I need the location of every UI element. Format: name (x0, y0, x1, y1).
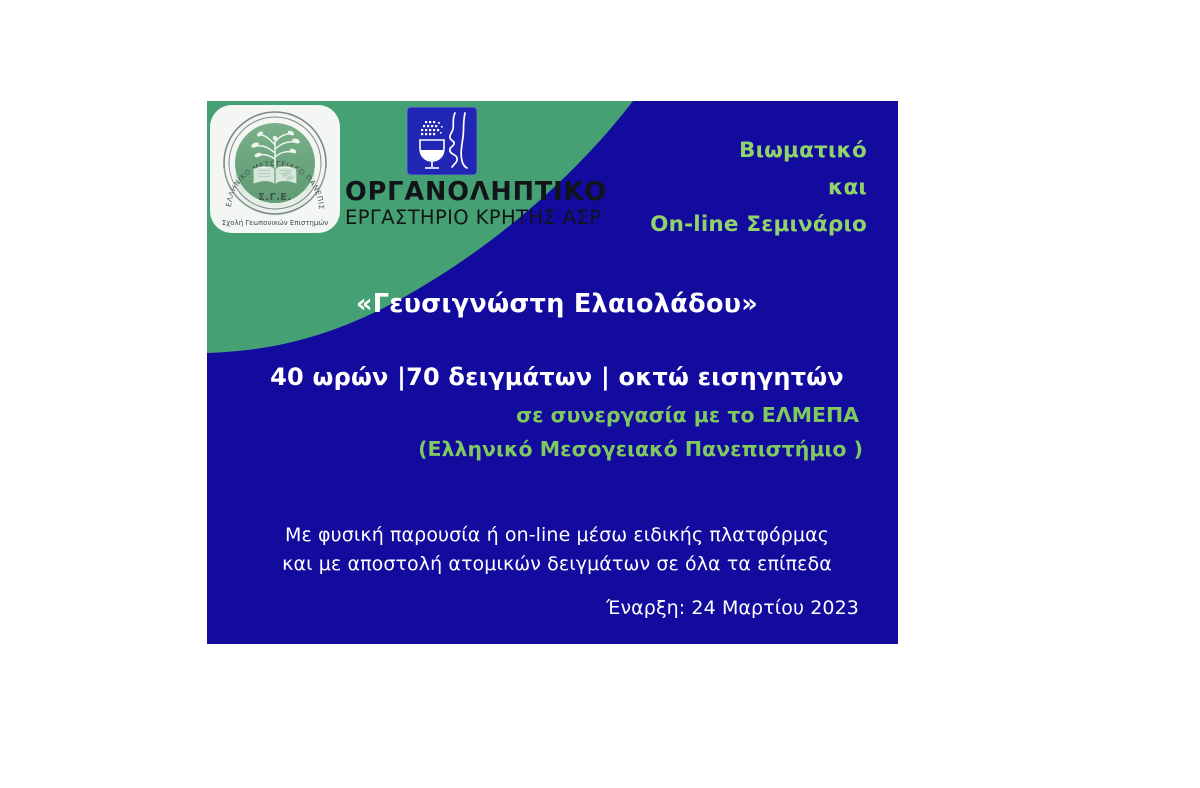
headline-line-2: και (507, 169, 867, 206)
seminar-footer: Με φυσική παρουσία ή on-line μέσω ειδική… (227, 521, 887, 623)
svg-text:Σ.Γ.Ε.: Σ.Γ.Ε. (258, 192, 291, 203)
headline-line-1: Βιωματικό (507, 132, 867, 169)
seal-emblem-icon: ΕΛΛΗΝΙΚΟ ΜΕΣΟΓΕΙΑΚΟ ΠΑΝΕΠΙΣΤΗΜΙΟ (210, 105, 340, 233)
wine-glass-tasting-icon (407, 107, 477, 175)
footer-line-1: Με φυσική παρουσία ή on-line μέσω ειδική… (227, 521, 887, 550)
hours-samples-speakers: 40 ωρών |70 δειγμάτων | οκτώ εισηγητών (227, 363, 887, 391)
university-full-name: (Ελληνικό Μεσογειακό Πανεπιστήμιο ) (227, 437, 887, 461)
cooperation-line: σε συνεργασία με το ΕΛΜΕΠΑ (227, 403, 883, 427)
start-date: Έναρξη: 24 Μαρτίου 2023 (227, 594, 887, 623)
svg-text:Σχολή Γεωπονικών Επιστημών: Σχολή Γεωπονικών Επιστημών (222, 219, 328, 227)
poster-root: ΕΛΛΗΝΙΚΟ ΜΕΣΟΓΕΙΑΚΟ ΠΑΝΕΠΙΣΤΗΜΙΟ (0, 0, 1200, 788)
university-seal-logo: ΕΛΛΗΝΙΚΟ ΜΕΣΟΓΕΙΑΚΟ ΠΑΝΕΠΙΣΤΗΜΙΟ (210, 105, 340, 233)
seminar-flyer-card: ΕΛΛΗΝΙΚΟ ΜΕΣΟΓΕΙΑΚΟ ΠΑΝΕΠΙΣΤΗΜΙΟ (207, 101, 898, 644)
headline-line-3: On-line Σεμινάριο (507, 206, 867, 243)
seminar-type-headline: Βιωματικό και On-line Σεμινάριο (507, 132, 867, 244)
seminar-title: «Γευσιγνώστη Ελαιολάδου» (227, 289, 887, 319)
footer-line-2: και με αποστολή ατομικών δειγμάτων σε όλ… (227, 550, 887, 579)
seminar-details: 40 ωρών |70 δειγμάτων | οκτώ εισηγητών σ… (227, 363, 887, 461)
